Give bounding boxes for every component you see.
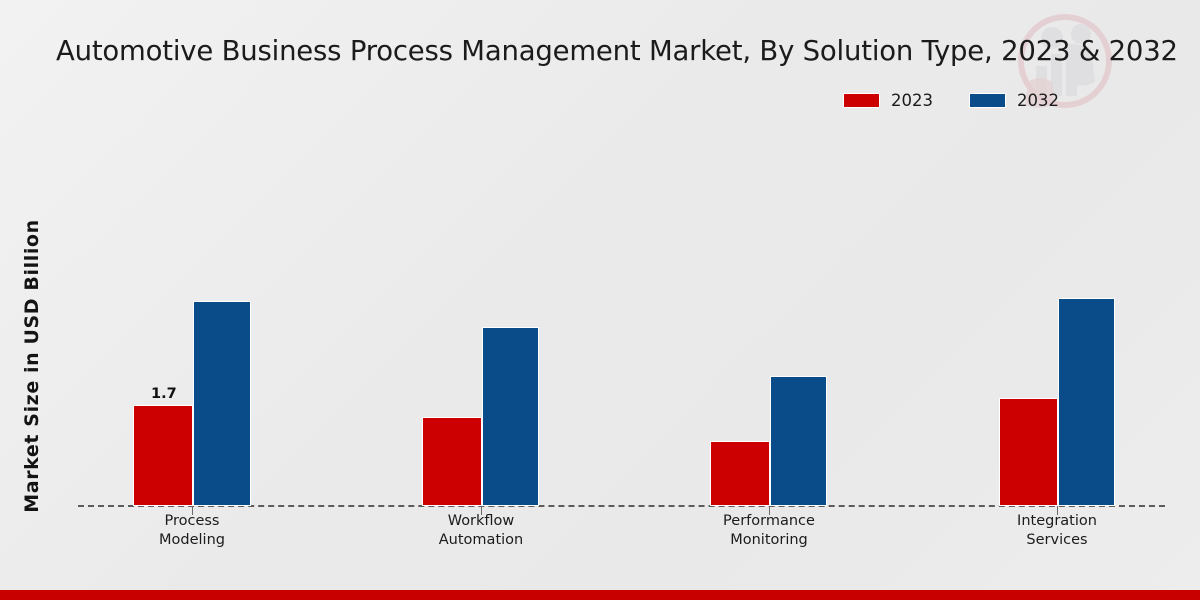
bar-2023-performance-monitoring[interactable] bbox=[710, 441, 770, 506]
bar-2023-workflow-automation[interactable] bbox=[422, 417, 482, 506]
x-label-workflow-automation: Workflow Automation bbox=[401, 512, 561, 550]
bar-2032-workflow-automation[interactable] bbox=[482, 327, 539, 506]
bar-2023-process-modeling[interactable] bbox=[133, 405, 193, 506]
x-label-process-modeling: Process Modeling bbox=[112, 512, 272, 550]
bar-2032-performance-monitoring[interactable] bbox=[770, 376, 827, 506]
bar-2032-process-modeling[interactable] bbox=[193, 301, 251, 506]
plot-area: 1.7 Process Modeling Workflow Automation… bbox=[0, 0, 1200, 600]
bar-2032-integration-services[interactable] bbox=[1058, 298, 1115, 506]
x-label-performance-monitoring: Performance Monitoring bbox=[689, 512, 849, 550]
bar-value-label-2023-process-modeling: 1.7 bbox=[151, 386, 177, 402]
bar-2023-integration-services[interactable] bbox=[999, 398, 1058, 506]
footer-accent-bar bbox=[0, 590, 1200, 600]
x-label-integration-services: Integration Services bbox=[977, 512, 1137, 550]
chart-figure: Automotive Business Process Management M… bbox=[0, 0, 1200, 600]
